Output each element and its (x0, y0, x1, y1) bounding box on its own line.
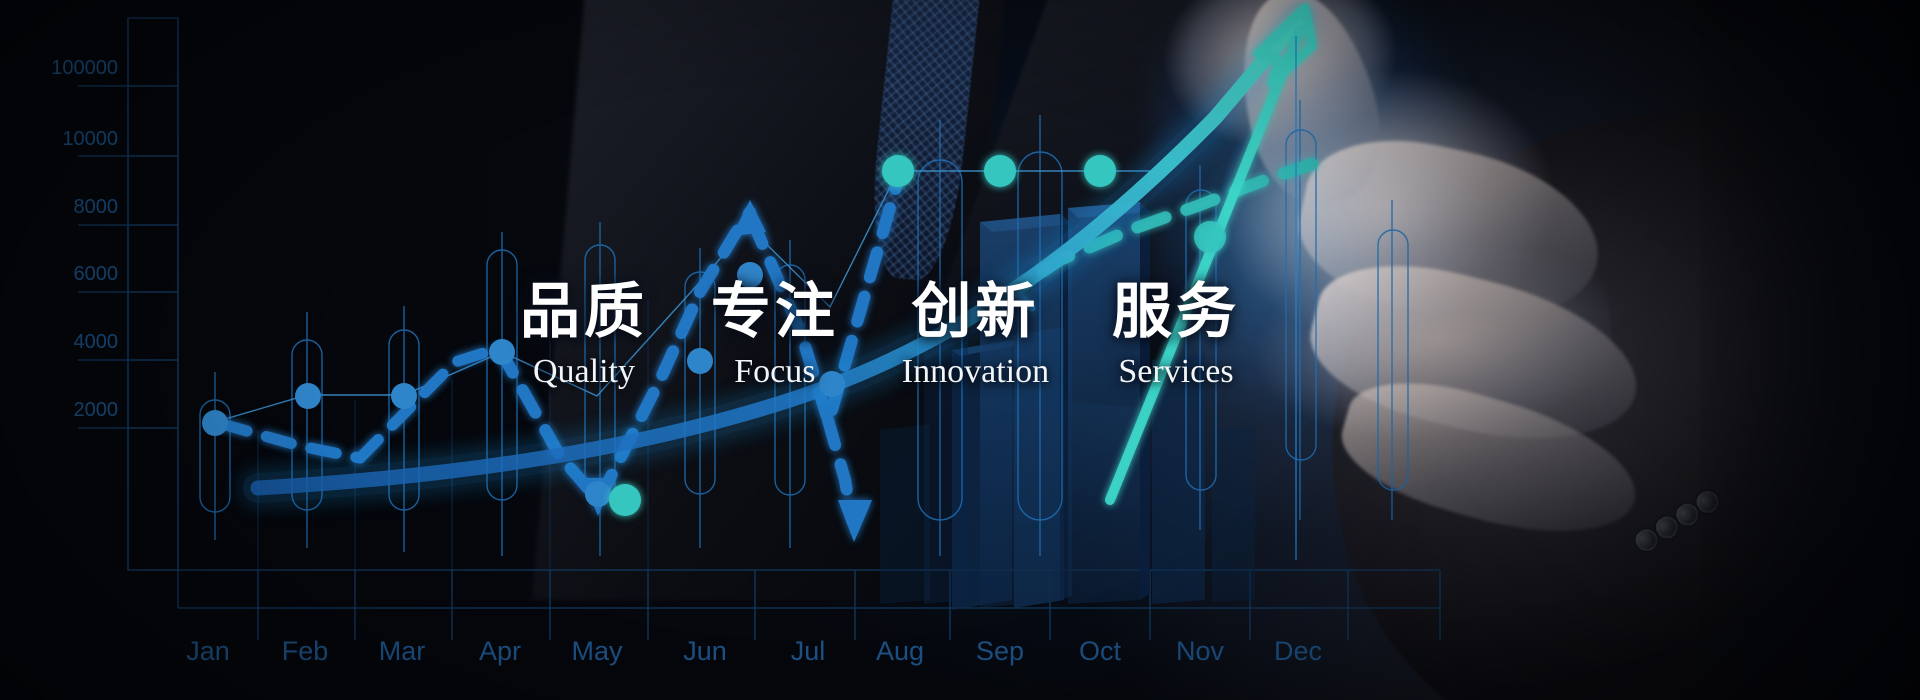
headline-item-innovation: 创新 Innovation (902, 280, 1049, 391)
headline-group: 品质 Quality 专注 Focus 创新 Innovation 服务 Ser… (520, 280, 1240, 391)
headline-item-focus: 专注 Focus (711, 280, 839, 391)
headline-item-services: 服务 Services (1112, 280, 1240, 391)
headline-cn: 服务 (1112, 280, 1240, 343)
headline-en: Innovation (902, 353, 1049, 391)
headline-en: Focus (711, 353, 839, 391)
banner-stage: 100000 10000 8000 6000 4000 2000 Jan Feb… (0, 0, 1920, 700)
headline-en: Services (1112, 353, 1240, 391)
headline-cn: 专注 (711, 280, 839, 343)
headline-en: Quality (520, 353, 648, 391)
headline-cn: 创新 (902, 280, 1049, 343)
headline-cn: 品质 (520, 280, 648, 343)
headline-item-quality: 品质 Quality (520, 280, 648, 391)
